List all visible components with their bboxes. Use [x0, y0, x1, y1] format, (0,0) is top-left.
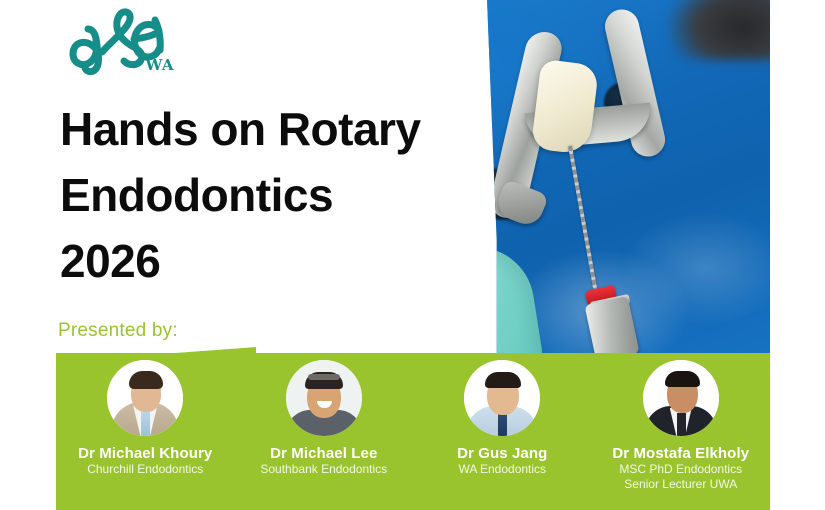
presenter-affiliation: Southbank Endodontics [260, 462, 387, 477]
presenter-affiliation: MSC PhD Endodontics [619, 462, 742, 477]
list-item: Dr Michael Khoury Churchill Endodontics [56, 353, 235, 477]
presenter-name: Dr Gus Jang [457, 445, 547, 462]
title-line-3: 2026 [60, 228, 440, 294]
list-item: Dr Michael Lee Southbank Endodontics [235, 353, 414, 477]
page-title: Hands on Rotary Endodontics 2026 [60, 96, 440, 294]
presenter-list: Dr Michael Khoury Churchill Endodontics … [56, 353, 770, 510]
event-flyer: WA Hands on Rotary Endodontics 2026 Pres… [0, 0, 825, 510]
avatar [464, 360, 540, 436]
presenter-name: Dr Mostafa Elkholy [612, 445, 749, 462]
presenter-name: Dr Michael Khoury [78, 445, 212, 462]
title-line-2: Endodontics [60, 162, 440, 228]
avatar [286, 360, 362, 436]
logo-wa-text: WA [145, 56, 174, 74]
file-handle [584, 296, 639, 353]
avatar [643, 360, 719, 436]
avatar-michael-lee-icon [286, 360, 362, 436]
presenter-affiliation-2: Senior Lecturer UWA [624, 477, 737, 492]
presented-by-label: Presented by: [58, 320, 178, 342]
presenter-affiliation: Churchill Endodontics [87, 462, 203, 477]
avatar-mostafa-elkholy-icon [643, 360, 719, 436]
ase-wa-logo: WA [62, 8, 180, 76]
list-item: Dr Gus Jang WA Endodontics [413, 353, 592, 477]
avatar-michael-khoury-icon [107, 360, 183, 436]
list-item: Dr Mostafa Elkholy MSC PhD Endodontics S… [592, 353, 771, 492]
avatar-gus-jang-icon [464, 360, 540, 436]
avatar [107, 360, 183, 436]
presenter-affiliation: WA Endodontics [458, 462, 546, 477]
photo-corner-shadow [668, 0, 770, 60]
title-line-1: Hands on Rotary [60, 96, 440, 162]
presenter-name: Dr Michael Lee [270, 445, 377, 462]
endodontic-file-shaft [568, 146, 598, 292]
